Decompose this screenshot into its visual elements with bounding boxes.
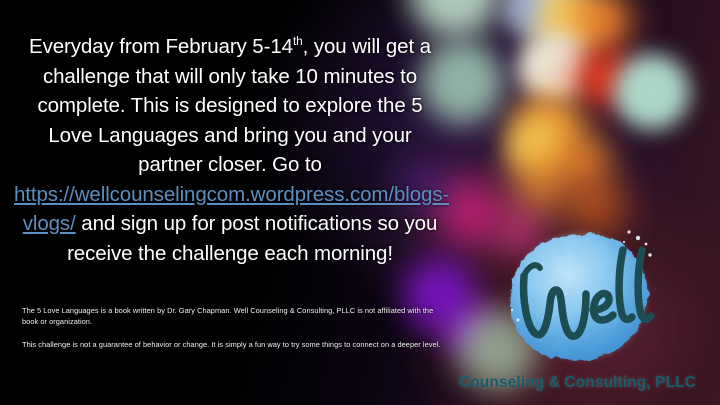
logo-watercolor-blob [510, 234, 647, 361]
presentation-slide: Everyday from February 5-14th, you will … [0, 0, 720, 405]
message-part-3: and sign up for post notifications so yo… [67, 212, 437, 265]
bokeh-orange-b2 [510, 155, 570, 215]
bokeh-orange-bottom [554, 132, 610, 188]
bokeh-yellow-top [539, 0, 607, 56]
bokeh-mint-right [614, 54, 690, 130]
bokeh-red-mid [572, 48, 632, 108]
bokeh-periwinkle-top [504, 0, 552, 34]
logo-tagline: Counseling & Consulting, PLLC [440, 374, 715, 392]
ordinal-suffix: th [293, 34, 303, 48]
bokeh-orange-lower-mid [512, 92, 584, 164]
well-logo [498, 224, 668, 374]
message-part-1: Everyday from February 5-14 [29, 35, 293, 58]
bokeh-cream-top-mid [511, 0, 579, 38]
disclaimer-guarantee: This challenge is not a guarantee of beh… [22, 340, 442, 351]
bokeh-yellow-lower [506, 118, 566, 178]
disclaimer-book: The 5 Love Languages is a book written b… [22, 306, 442, 327]
bokeh-purple-small [444, 306, 492, 354]
main-message: Everyday from February 5-14th, you will … [14, 32, 446, 268]
bokeh-cream-center [517, 31, 589, 103]
bokeh-orange-top-right [572, 0, 632, 50]
